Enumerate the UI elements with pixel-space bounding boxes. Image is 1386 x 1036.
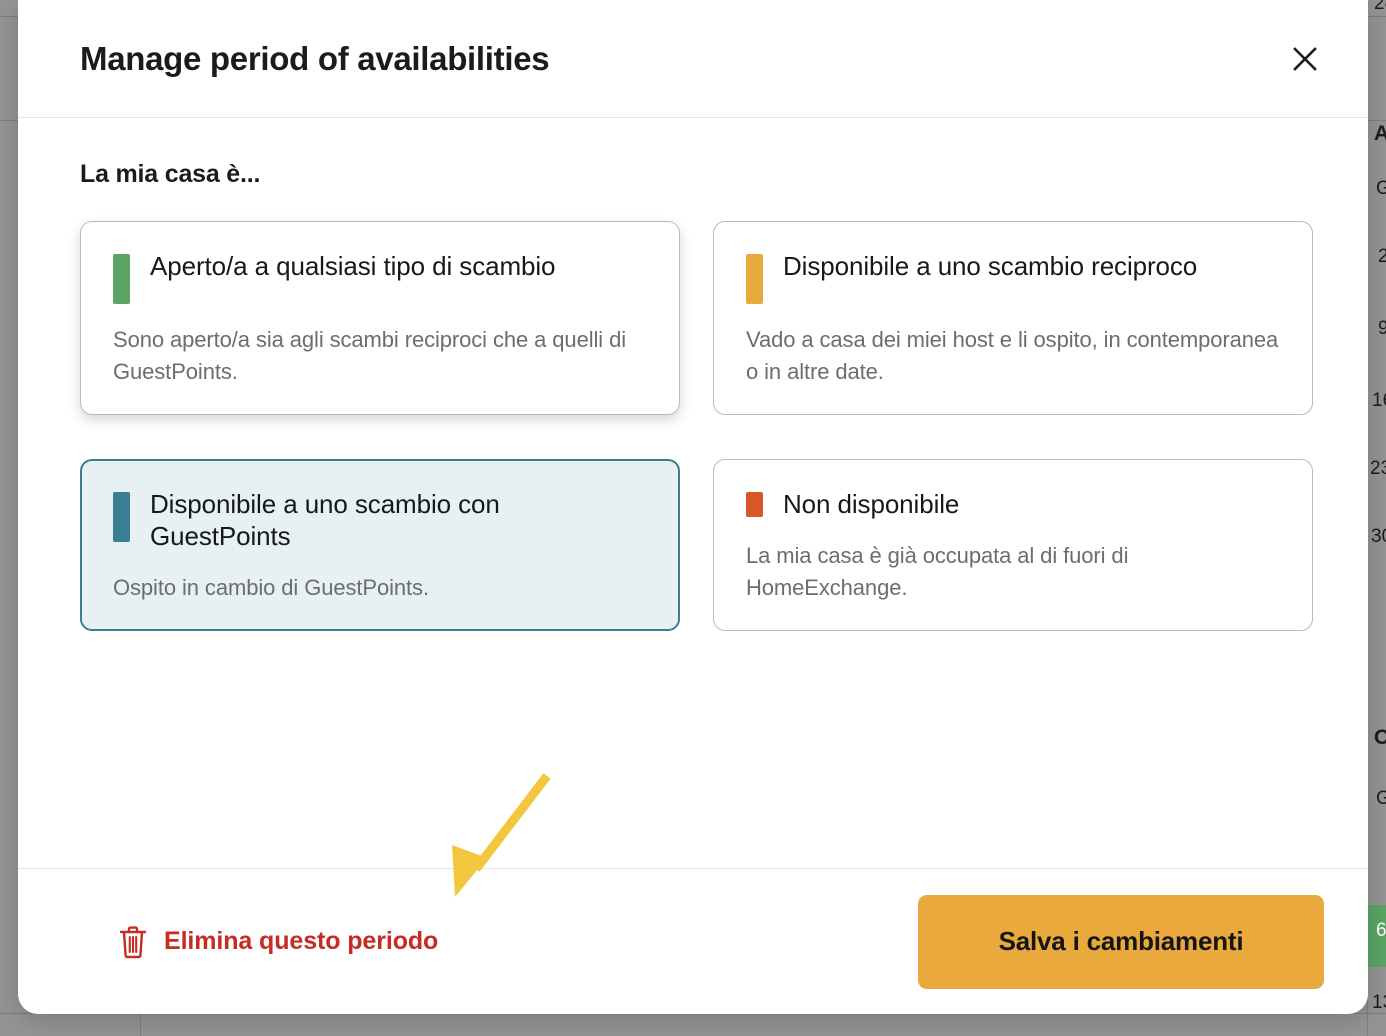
option-description: Vado a casa dei miei host e li ospito, i…: [746, 324, 1280, 388]
color-swatch-green: [113, 254, 130, 304]
option-card-guestpoints-exchange[interactable]: Disponibile a uno scambio con GuestPoint…: [80, 459, 680, 631]
option-header: Non disponibile: [746, 488, 1280, 520]
calendar-day-number: 2: [1378, 246, 1386, 268]
save-button[interactable]: Salva i cambiamenti: [918, 895, 1324, 989]
option-header: Aperto/a a qualsiasi tipo di scambio: [113, 250, 647, 304]
close-icon: [1291, 45, 1319, 73]
option-description: Sono aperto/a sia agli scambi reciproci …: [113, 324, 647, 388]
option-card-reciprocal-exchange[interactable]: Disponibile a uno scambio reciproco Vado…: [713, 221, 1313, 415]
calendar-day-number: 30: [1371, 526, 1386, 548]
calendar-month-label: AI: [1374, 122, 1386, 146]
calendar-weekday-label: G: [1376, 788, 1386, 810]
modal-body: La mia casa è... Aperto/a a qualsiasi ti…: [18, 118, 1368, 868]
option-description: La mia casa è già occupata al di fuori d…: [746, 540, 1280, 604]
option-header: Disponibile a uno scambio reciproco: [746, 250, 1280, 304]
color-swatch-red: [746, 492, 763, 517]
option-title: Aperto/a a qualsiasi tipo di scambio: [150, 250, 555, 282]
availability-options-grid: Aperto/a a qualsiasi tipo di scambio Son…: [80, 221, 1306, 631]
calendar-day-number: 9: [1378, 318, 1386, 340]
delete-period-label: Elimina questo periodo: [164, 927, 438, 956]
manage-availabilities-modal: Manage period of availabilities La mia c…: [18, 0, 1368, 1014]
calendar-day-number: 23: [1370, 458, 1386, 480]
calendar-grid-line: [1368, 120, 1386, 121]
modal-footer: Elimina questo periodo Salva i cambiamen…: [18, 868, 1368, 1014]
option-title: Disponibile a uno scambio reciproco: [783, 250, 1197, 282]
option-header: Disponibile a uno scambio con GuestPoint…: [113, 488, 647, 552]
option-card-open-any-exchange[interactable]: Aperto/a a qualsiasi tipo di scambio Son…: [80, 221, 680, 415]
section-label: La mia casa è...: [80, 160, 1306, 189]
option-description: Ospito in cambio di GuestPoints.: [113, 572, 647, 604]
page-title: Manage period of availabilities: [80, 40, 549, 78]
trash-icon: [118, 925, 148, 959]
option-title: Non disponibile: [783, 488, 959, 520]
delete-period-button[interactable]: Elimina questo periodo: [118, 919, 438, 965]
color-swatch-amber: [746, 254, 763, 304]
option-title: Disponibile a uno scambio con GuestPoint…: [150, 488, 647, 552]
close-button[interactable]: [1282, 36, 1328, 82]
option-card-not-available[interactable]: Non disponibile La mia casa è già occupa…: [713, 459, 1313, 631]
calendar-day-number: 16: [1372, 390, 1386, 412]
calendar-day-number: 13: [1372, 992, 1386, 1014]
modal-header: Manage period of availabilities: [18, 0, 1368, 118]
calendar-month-label: O: [1374, 726, 1386, 750]
calendar-day-number: 6: [1376, 920, 1386, 942]
calendar-grid-line: [140, 1013, 141, 1036]
calendar-weekday-label: G: [1376, 178, 1386, 200]
color-swatch-teal: [113, 492, 130, 542]
calendar-day-number: 28: [1374, 0, 1386, 15]
